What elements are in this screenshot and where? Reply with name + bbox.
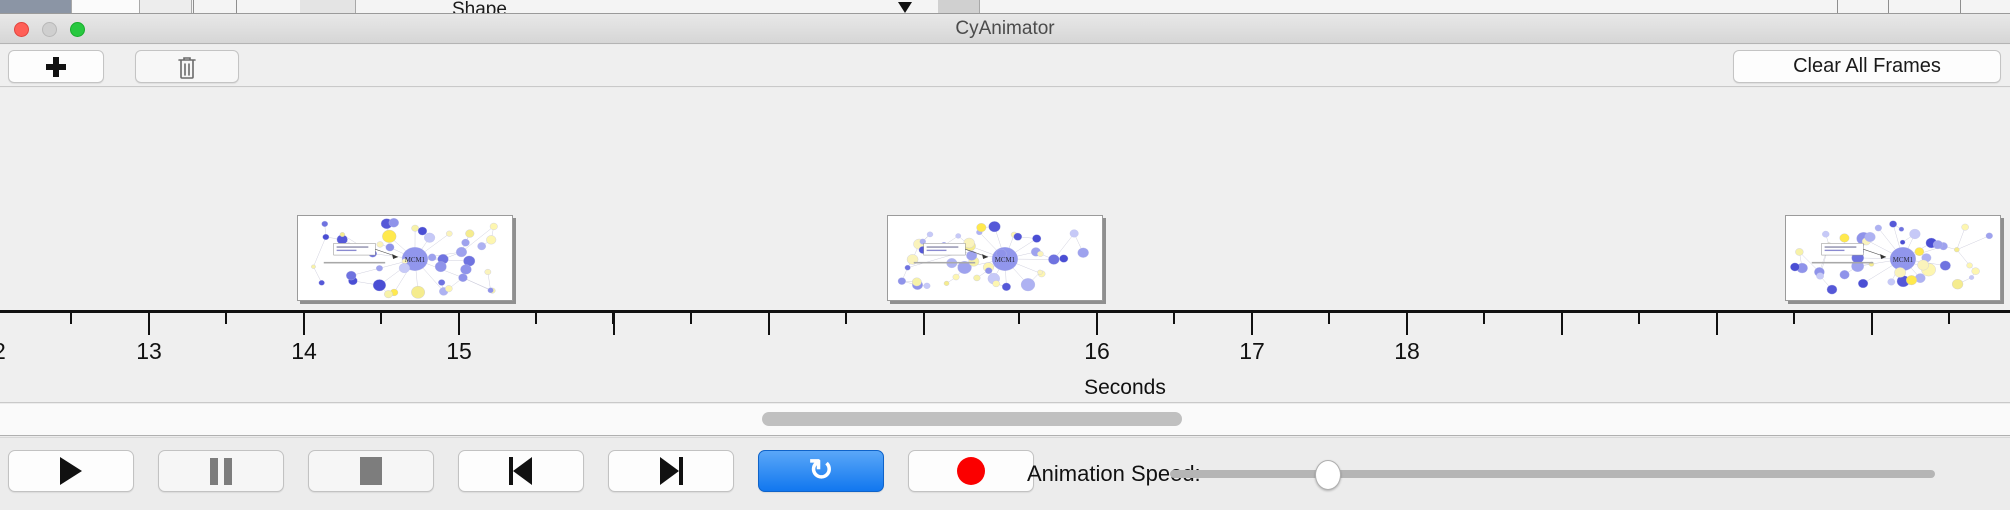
timeline-scrollbar-thumb[interactable] <box>762 412 1182 426</box>
axis-tick-minor <box>1638 313 1640 324</box>
axis-tick-minor <box>1871 313 1873 324</box>
axis-tick-minor <box>1793 313 1795 324</box>
axis-tick-minor <box>1561 313 1563 324</box>
axis-tick-minor <box>1173 313 1175 324</box>
axis-tick-label: 13 <box>136 338 162 365</box>
clear-all-frames-button[interactable]: Clear All Frames <box>1733 50 2001 83</box>
play-button[interactable] <box>8 450 134 492</box>
bg-window-divider <box>193 0 194 14</box>
plus-icon <box>46 57 66 77</box>
bg-window-tab <box>72 0 140 14</box>
first-frame-button[interactable] <box>458 450 584 492</box>
skip-back-icon <box>508 457 534 485</box>
axis-tick-major <box>303 313 305 335</box>
background-window-strip: Shape <box>0 0 2010 14</box>
bg-window-tab <box>0 0 72 14</box>
delete-frame-button[interactable] <box>135 50 239 83</box>
animation-speed-slider[interactable] <box>1170 470 1935 478</box>
axis-tick-label: 14 <box>291 338 317 365</box>
timeline-frame-thumbnail[interactable]: MCM1 <box>1785 215 2001 301</box>
axis-tick-major <box>1406 313 1408 335</box>
bg-window-divider <box>1960 0 1961 14</box>
axis-tick-major <box>458 313 460 335</box>
axis-tick-minor <box>70 313 72 324</box>
animation-speed-slider-thumb[interactable] <box>1315 460 1341 490</box>
axis-tick-minor <box>690 313 692 324</box>
window-title: CyAnimator <box>0 14 2010 44</box>
svg-text:MCM1: MCM1 <box>1893 257 1914 264</box>
axis-tick-major <box>148 313 150 335</box>
skip-forward-icon <box>658 457 684 485</box>
axis-tick-minor <box>535 313 537 324</box>
axis-tick-label: 15 <box>446 338 472 365</box>
stop-button[interactable] <box>308 450 434 492</box>
timeline-frame-thumbnail[interactable]: MCM1 <box>887 215 1103 301</box>
axis-tick-major <box>1251 313 1253 335</box>
axis-tick-minor <box>1716 313 1718 324</box>
pause-button[interactable] <box>158 450 284 492</box>
bg-window-label: Shape <box>452 0 507 14</box>
add-frame-button[interactable] <box>8 50 104 83</box>
trash-icon <box>177 55 197 79</box>
axis-tick-label: 17 <box>1239 338 1265 365</box>
pause-icon <box>210 458 232 485</box>
bg-window-divider <box>1837 0 1838 14</box>
timeline-panel[interactable]: MCM1MCM1MCM1 12131415161718 Seconds <box>0 88 2010 403</box>
last-frame-button[interactable] <box>608 450 734 492</box>
svg-text:MCM1: MCM1 <box>405 257 426 264</box>
axis-tick-label: 18 <box>1394 338 1420 365</box>
cyanimator-window: Shape CyAnimator Clear All Frames MCM1MC… <box>0 0 2010 510</box>
record-icon <box>957 457 985 485</box>
title-bar: CyAnimator <box>0 14 2010 44</box>
axis-tick-minor <box>225 313 227 324</box>
bg-window-divider <box>236 0 237 14</box>
loop-button[interactable]: ↻ <box>758 450 884 492</box>
bg-window-divider <box>1888 0 1889 14</box>
axis-tick-minor <box>1948 313 1950 324</box>
bg-window-tab <box>300 0 356 14</box>
axis-title: Seconds <box>0 376 2010 400</box>
axis-tick-minor <box>1328 313 1330 324</box>
clear-all-frames-label: Clear All Frames <box>1793 55 1941 78</box>
bg-window-tab <box>140 0 192 14</box>
svg-text:MCM1: MCM1 <box>995 257 1016 264</box>
play-icon <box>60 457 82 485</box>
timeline-scrollbar[interactable] <box>0 404 2010 436</box>
timeline-frame-thumbnail[interactable]: MCM1 <box>297 215 513 301</box>
record-button[interactable] <box>908 450 1034 492</box>
bg-window-marker-icon <box>898 2 912 13</box>
axis-tick-minor <box>1018 313 1020 324</box>
axis-tick-major <box>1096 313 1098 335</box>
axis-tick-minor <box>1483 313 1485 324</box>
axis-tick-label: 16 <box>1084 338 1110 365</box>
axis-tick-minor <box>923 313 925 324</box>
axis-tick-minor <box>380 313 382 324</box>
transport-bar: ↻ Animation Speed: <box>0 437 2010 510</box>
axis-tick-minor <box>768 313 770 324</box>
axis-tick-label: 12 <box>0 338 6 365</box>
axis-tick-minor <box>845 313 847 324</box>
bg-window-tab <box>938 0 980 14</box>
stop-icon <box>360 457 382 485</box>
axis-tick-minor <box>612 313 614 324</box>
timeline-axis <box>0 310 2010 313</box>
loop-icon: ↻ <box>808 456 833 486</box>
toolbar: Clear All Frames <box>0 45 2010 87</box>
